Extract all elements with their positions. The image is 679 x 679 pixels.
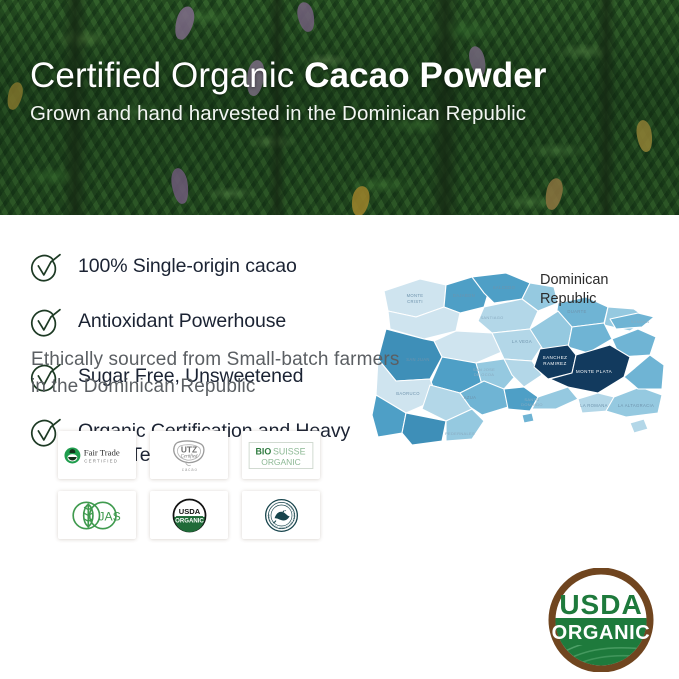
svg-text:ORGANIC: ORGANIC (175, 518, 204, 524)
svg-text:DE OCOA: DE OCOA (474, 372, 495, 377)
footer-tagline-line1: Ethically sourced from Small-batch farme… (31, 347, 399, 374)
certification-badge-grid: Fair Trade CERTIFIED UTZ Certified cacao (58, 431, 320, 539)
usda-seal-top-text: USDA (559, 589, 642, 620)
svg-text:DUARTE: DUARTE (567, 309, 586, 314)
feature-label: 100% Single-origin cacao (78, 251, 297, 279)
svg-text:USDA: USDA (178, 507, 200, 516)
svg-text:SALCEDO: SALCEDO (493, 285, 516, 290)
map-country-label-line1: Dominican (540, 271, 609, 290)
check-circle-icon (26, 307, 66, 343)
svg-text:SAN JUAN: SAN JUAN (406, 357, 430, 362)
usda-organic-badge-small: USDA ORGANIC (150, 491, 228, 539)
svg-text:RAMIREZ: RAMIREZ (543, 361, 566, 366)
map-country-label-line2: Republic (540, 290, 609, 309)
fair-trade-certified-badge: Fair Trade CERTIFIED (58, 431, 136, 479)
rainforest-alliance-badge: RAINFOREST ALLIANCE CERTIFIED (242, 491, 320, 539)
svg-text:PEDERNALES: PEDERNALES (445, 431, 475, 436)
svg-text:CRISTI: CRISTI (407, 299, 423, 304)
footer-tagline-line2: in the Dominican Republic (31, 374, 399, 401)
footer-tagline: Ethically sourced from Small-batch farme… (31, 347, 399, 401)
svg-text:JAS: JAS (98, 509, 120, 523)
page-subtitle: Grown and hand harvested in the Dominica… (30, 102, 655, 127)
svg-text:cacao: cacao (182, 467, 198, 472)
page-title-bold: Cacao Powder (304, 56, 546, 95)
svg-text:MONTE: MONTE (407, 293, 424, 298)
svg-text:DAJABON: DAJABON (453, 293, 475, 298)
svg-text:Certified: Certified (181, 454, 198, 459)
usda-organic-seal: USDA ORGANIC (540, 568, 662, 672)
svg-text:SANTIAGO: SANTIAGO (480, 315, 503, 320)
feature-label: Antioxidant Powerhouse (78, 306, 286, 334)
svg-text:MONTE PLATA: MONTE PLATA (576, 369, 613, 374)
svg-text:SANCHEZ: SANCHEZ (543, 355, 568, 360)
svg-text:ORGANIC: ORGANIC (261, 456, 301, 466)
product-infographic: Certified Organic Cacao Powder Grown and… (0, 0, 679, 679)
svg-text:LA ROMANA: LA ROMANA (580, 403, 608, 408)
jas-organic-badge: JAS (58, 491, 136, 539)
svg-text:BIO: BIO (256, 446, 272, 456)
svg-text:LA VEGA: LA VEGA (512, 339, 532, 344)
svg-text:CERTIFIED: CERTIFIED (84, 458, 118, 463)
svg-text:AZUA: AZUA (464, 395, 477, 400)
check-circle-icon (26, 252, 66, 288)
hero-text-block: Certified Organic Cacao Powder Grown and… (30, 56, 655, 127)
dominican-republic-map: MONTE CRISTI DAJABON SALCEDO DUARTE SAN … (372, 263, 667, 451)
svg-text:SAMANA: SAMANA (631, 319, 650, 324)
page-title-light: Certified Organic (30, 56, 304, 95)
hero-banner: Certified Organic Cacao Powder Grown and… (0, 0, 679, 215)
svg-text:UTZ: UTZ (181, 444, 197, 454)
svg-text:Fair Trade: Fair Trade (84, 447, 120, 457)
utz-certified-badge: UTZ Certified cacao (150, 431, 228, 479)
map-country-label: Dominican Republic (540, 271, 609, 308)
svg-text:SUISSE: SUISSE (273, 446, 306, 456)
list-item: Antioxidant Powerhouse (26, 306, 376, 343)
list-item: 100% Single-origin cacao (26, 251, 376, 288)
svg-text:BAORUCO: BAORUCO (396, 391, 420, 396)
bio-suisse-organic-badge: BIO SUISSE ORGANIC (242, 431, 320, 479)
svg-text:LA ALTAGRACIA: LA ALTAGRACIA (618, 403, 654, 408)
page-title: Certified Organic Cacao Powder (30, 56, 655, 95)
svg-text:DOMINGO: DOMINGO (521, 402, 543, 407)
usda-seal-bottom-text: ORGANIC (552, 622, 651, 644)
